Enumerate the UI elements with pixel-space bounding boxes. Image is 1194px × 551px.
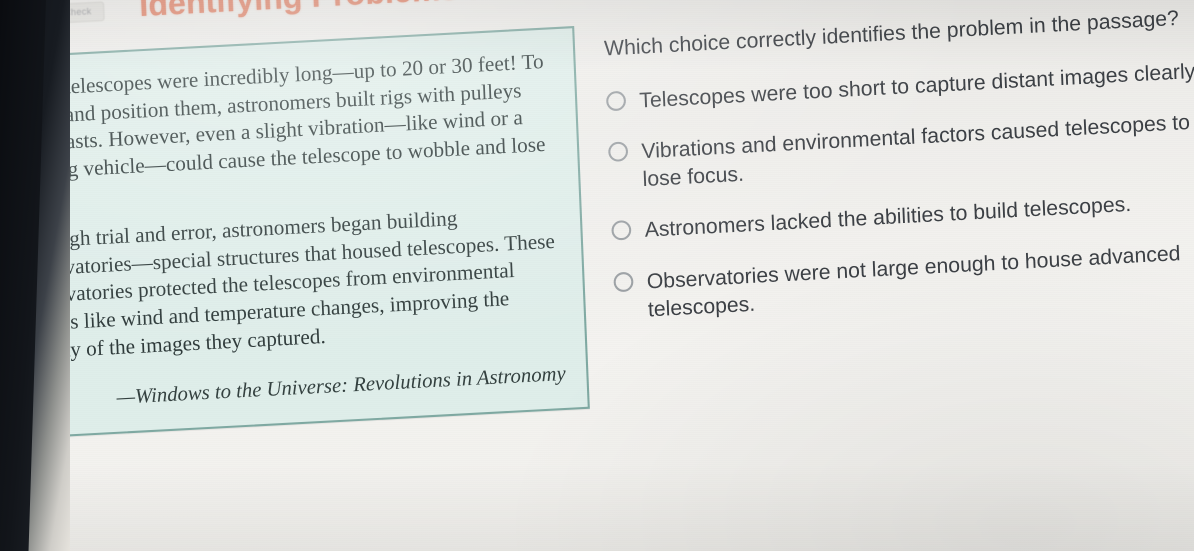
radio-button-icon[interactable]	[608, 141, 628, 162]
passage-paragraph-2: Through trial and error, astronomers beg…	[17, 200, 564, 367]
answer-choice-label: Vibrations and environmental factors cau…	[641, 106, 1194, 194]
answer-choice-4[interactable]: Observatories were not large enough to h…	[613, 236, 1194, 325]
passage-paragraph-1: Some telescopes were incredibly long—up …	[11, 48, 558, 215]
answer-choice-label: Telescopes were too short to capture dis…	[639, 57, 1194, 115]
quiz-screen: Check Identifying Problems and Solutions…	[0, 0, 1194, 551]
radio-button-icon[interactable]	[613, 271, 633, 292]
check-button[interactable]: Check	[51, 1, 104, 23]
passage-citation: —Windows to the Universe: Revolutions in…	[24, 361, 567, 417]
photographed-screen: Check Identifying Problems and Solutions…	[0, 0, 1194, 551]
question-prompt: Which choice correctly identifies the pr…	[604, 2, 1194, 63]
answer-choice-label: Astronomers lacked the abilities to buil…	[644, 191, 1132, 245]
radio-button-icon[interactable]	[606, 90, 626, 111]
answer-choice-label: Observatories were not large enough to h…	[646, 236, 1194, 324]
answer-choice-2[interactable]: Vibrations and environmental factors cau…	[608, 106, 1194, 195]
passage-card: Some telescopes were incredibly long—up …	[0, 26, 590, 440]
toolbar: Check	[51, 1, 104, 23]
content-area: Some telescopes were incredibly long—up …	[0, 0, 1194, 440]
answer-choice-3[interactable]: Astronomers lacked the abilities to buil…	[611, 185, 1194, 246]
page-title: Identifying Problems and Solutions	[139, 0, 682, 24]
question-panel: Which choice correctly identifies the pr…	[603, 0, 1194, 348]
answer-choice-1[interactable]: Telescopes were too short to capture dis…	[606, 55, 1194, 116]
radio-button-icon[interactable]	[611, 220, 631, 241]
